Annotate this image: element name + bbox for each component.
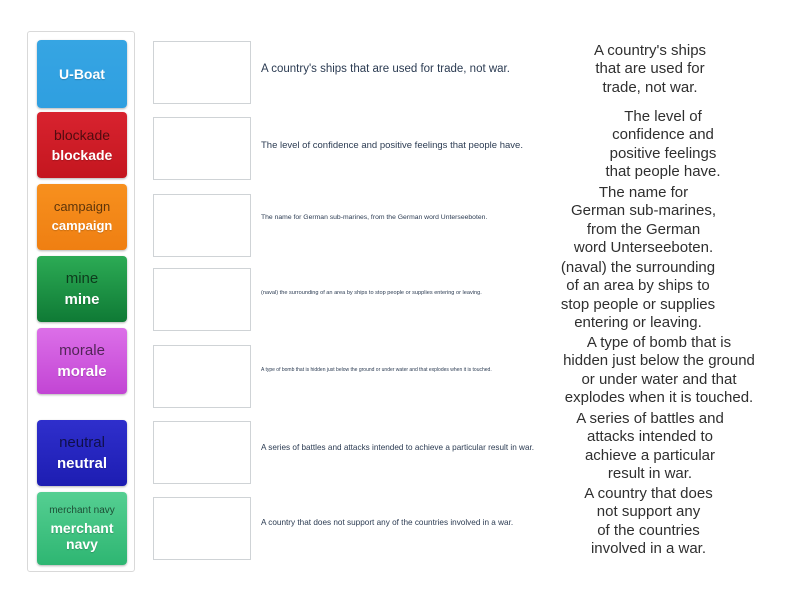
tile-label: U-Boat [59, 66, 105, 82]
tile-neutral[interactable]: neutral neutral [37, 420, 127, 486]
tile-label: blockade [52, 147, 113, 163]
definition-small-4: (naval) the surrounding of an area by sh… [261, 290, 571, 297]
drop-box-4[interactable] [153, 268, 251, 331]
tile-morale[interactable]: morale morale [37, 328, 127, 394]
tile-label: morale [57, 363, 106, 380]
drop-box-3[interactable] [153, 194, 251, 257]
definition-small-5: A type of bomb that is hidden just below… [261, 367, 571, 373]
definition-large-4: (naval) the surrounding of an area by sh… [528, 259, 748, 332]
activity-stage: U-Boat U-Boat blockade blockade campaign… [0, 0, 800, 600]
tile-label: neutral [57, 455, 107, 472]
tile-shadow-label: campaign [54, 200, 110, 215]
tile-shadow-label: merchant navy [49, 505, 115, 517]
tile-label: merchant navy [50, 520, 113, 552]
definition-large-3: The name for German sub-marines, from th… [536, 184, 751, 257]
tile-shadow-label: mine [66, 270, 99, 287]
definition-large-5: A type of bomb that is hidden just below… [535, 334, 783, 407]
drop-box-7[interactable] [153, 497, 251, 560]
definition-large-6: A series of battles and attacks intended… [550, 410, 750, 483]
definition-small-2: The level of confidence and positive fee… [261, 140, 571, 152]
tile-label: mine [64, 291, 99, 308]
definition-small-3: The name for German sub-marines, from th… [261, 214, 571, 222]
tile-shadow-label: neutral [59, 434, 105, 451]
tile-mine[interactable]: mine mine [37, 256, 127, 322]
definition-large-2: The level of confidence and positive fee… [578, 108, 748, 181]
drop-box-5[interactable] [153, 345, 251, 408]
definition-small-6: A series of battles and attacks intended… [261, 443, 561, 453]
tile-label: campaign [52, 219, 113, 234]
tile-shadow-label: morale [59, 342, 105, 359]
drop-box-1[interactable] [153, 41, 251, 104]
tile-shadow-label: blockade [54, 127, 110, 143]
definition-small-7: A country that does not support any of t… [261, 518, 561, 528]
drop-box-6[interactable] [153, 421, 251, 484]
drop-box-2[interactable] [153, 117, 251, 180]
tile-u-boat[interactable]: U-Boat U-Boat [37, 40, 127, 108]
definition-small-1: A country's ships that are used for trad… [261, 62, 561, 76]
tile-blockade[interactable]: blockade blockade [37, 112, 127, 178]
definition-large-1: A country's ships that are used for trad… [565, 42, 735, 97]
definition-large-7: A country that does not support any of t… [551, 485, 746, 558]
tile-campaign[interactable]: campaign campaign [37, 184, 127, 250]
word-tile-panel: U-Boat U-Boat blockade blockade campaign… [27, 31, 135, 572]
tile-merchant-navy[interactable]: merchant navy merchant navy [37, 492, 127, 565]
